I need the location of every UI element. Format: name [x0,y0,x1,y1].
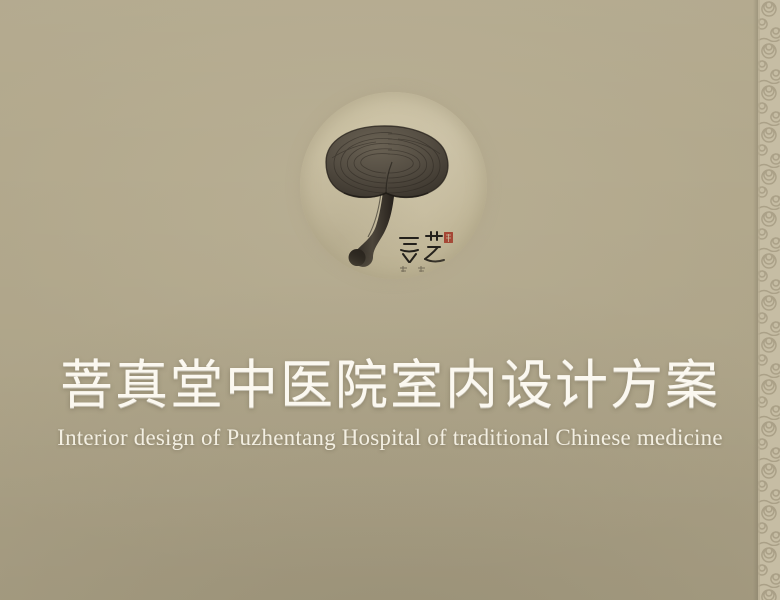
cover-page: 菩真堂中医院室内设计方案 Interior design of Puzhenta… [0,0,780,600]
spiral-cloud-pattern-band [758,0,780,600]
signature-small-text [400,266,425,272]
lingzhi-painting-medallion [300,92,487,279]
calligraphy-signature-group [300,92,487,279]
title-block: 菩真堂中医院室内设计方案 Interior design of Puzhenta… [0,355,780,452]
page-subtitle-english: Interior design of Puzhentang Hospital o… [0,424,780,452]
paper-texture-overlay [0,0,780,600]
calligraphy-lingzhi [400,232,444,262]
page-title-chinese: 菩真堂中医院室内设计方案 [0,355,780,417]
spiral-pattern-svg [758,0,780,600]
artist-seal [444,232,453,243]
